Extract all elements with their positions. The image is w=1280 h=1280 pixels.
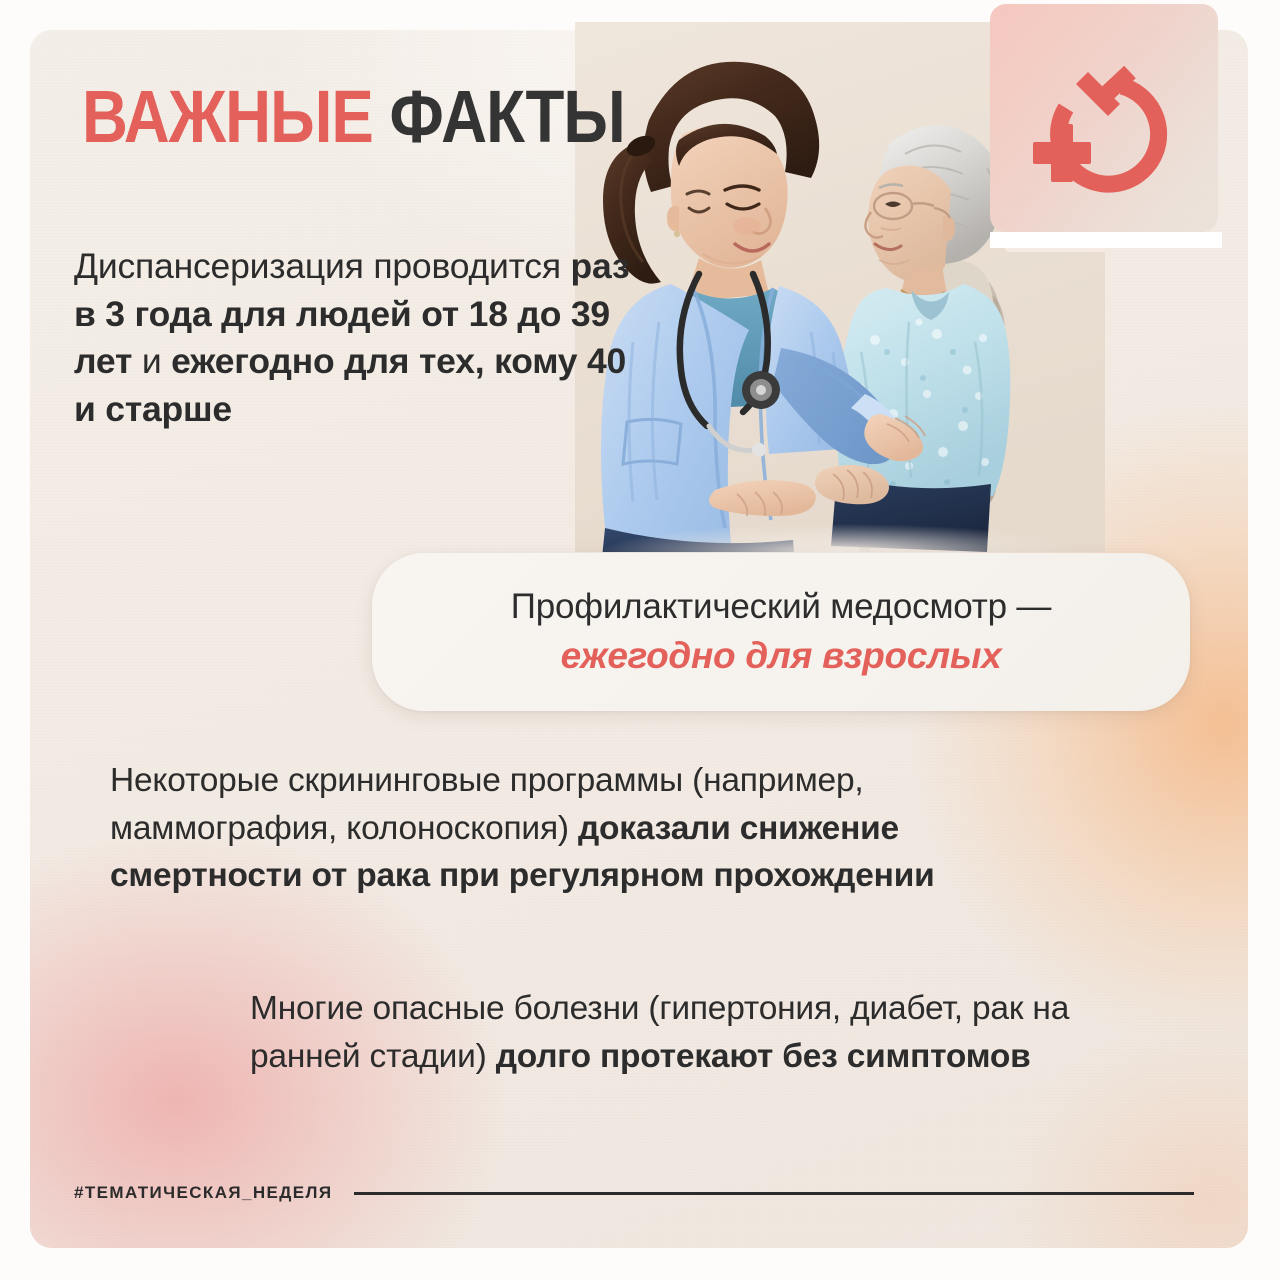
callout-line-2-accent: ежегодно для взрослых: [561, 633, 1002, 678]
logo-panel: [990, 4, 1218, 232]
card-notch-divider: [990, 232, 1222, 248]
page-title: ВАЖНЫЕ ФАКТЫ: [82, 80, 625, 154]
intro-part-1: Диспансеризация проводится: [74, 246, 571, 286]
intro-paragraph: Диспансеризация проводится раз в 3 года …: [74, 243, 654, 433]
medical-cross-refresh-icon: [1026, 52, 1184, 200]
callout-line-1: Профилактический медосмотр —: [511, 586, 1051, 629]
diseases-part-2-bold: долго протекают без симптомов: [496, 1038, 1031, 1075]
intro-part-3: и: [132, 341, 171, 381]
title-word-dark: ФАКТЫ: [389, 75, 624, 158]
fact-block-screening: Некоторые скрининговые программы (наприм…: [110, 757, 1010, 900]
footer: #ТЕМАТИЧЕСКАЯ_НЕДЕЛЯ: [74, 1179, 1194, 1207]
poster-stage: ВАЖНЫЕ ФАКТЫ: [0, 0, 1280, 1280]
footer-hashtag: #ТЕМАТИЧЕСКАЯ_НЕДЕЛЯ: [74, 1183, 332, 1203]
fact-block-diseases: Многие опасные болезни (гипертония, диаб…: [250, 985, 1120, 1080]
footer-rule-line: [354, 1192, 1194, 1195]
title-word-red: ВАЖНЫЕ: [82, 75, 373, 158]
highlight-callout-card: Профилактический медосмотр — ежегодно дл…: [372, 553, 1190, 711]
